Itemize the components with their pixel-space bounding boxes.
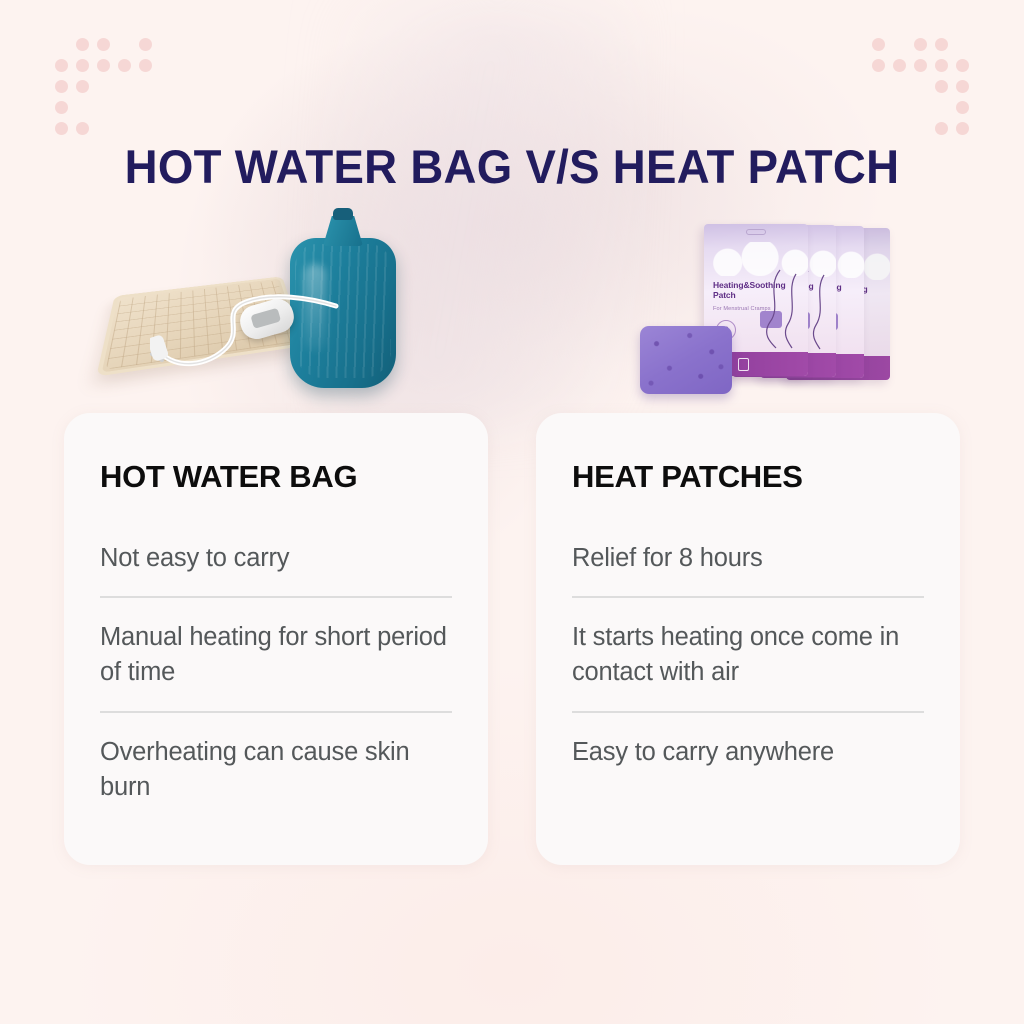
decorative-dot: [76, 59, 89, 72]
purple-heat-patch: [640, 326, 732, 394]
comparison-cards: HOT WATER BAG Not easy to carry Manual h…: [64, 413, 960, 865]
decorative-dot: [872, 38, 885, 51]
decorative-dot: [55, 122, 68, 135]
decorative-dot: [55, 59, 68, 72]
hot-water-bottle: [290, 238, 396, 388]
hang-tab-icon: [746, 229, 766, 235]
decorative-dot: [935, 59, 948, 72]
decorative-dot: [76, 38, 89, 51]
decorative-dot: [76, 122, 89, 135]
bottle-cap: [333, 208, 353, 220]
decorative-dot: [139, 38, 152, 51]
feature-list: Not easy to carry Manual heating for sho…: [100, 535, 452, 825]
decorative-dot: [935, 122, 948, 135]
decorative-dot: [893, 59, 906, 72]
list-item: Not easy to carry: [100, 535, 452, 596]
product-images: Heating&Soothing Patch Heating&Soothing …: [0, 196, 1024, 408]
decorative-dot: [55, 80, 68, 93]
bottle-neck: [323, 216, 363, 246]
list-item: Easy to carry anywhere: [572, 711, 924, 790]
decorative-dots-top-left: [34, 38, 174, 148]
decorative-dot: [914, 38, 927, 51]
decorative-dot: [97, 38, 110, 51]
body-silhouette-graphic: [746, 268, 804, 350]
decorative-dot: [118, 59, 131, 72]
decorative-dot: [956, 101, 969, 114]
feature-list: Relief for 8 hours It starts heating onc…: [572, 535, 924, 790]
decorative-dot: [935, 80, 948, 93]
list-item: Manual heating for short period of time: [100, 596, 452, 710]
decorative-dot: [97, 59, 110, 72]
decorative-dot: [55, 101, 68, 114]
card-title: HOT WATER BAG: [100, 459, 452, 495]
decorative-dot: [139, 59, 152, 72]
list-item: Overheating can cause skin burn: [100, 711, 452, 825]
card-heat-patches: HEAT PATCHES Relief for 8 hours It start…: [536, 413, 960, 865]
decorative-dot: [956, 122, 969, 135]
decorative-dot: [956, 80, 969, 93]
page-title: HOT WATER BAG V/S HEAT PATCH: [15, 139, 1008, 194]
list-item: It starts heating once come in contact w…: [572, 596, 924, 710]
card-hot-water-bag: HOT WATER BAG Not easy to carry Manual h…: [64, 413, 488, 865]
decorative-dot: [956, 59, 969, 72]
decorative-dots-top-right: [850, 38, 990, 148]
decorative-dot: [935, 38, 948, 51]
list-item: Relief for 8 hours: [572, 535, 924, 596]
card-title: HEAT PATCHES: [572, 459, 924, 495]
heat-patch-product-image: Heating&Soothing Patch Heating&Soothing …: [640, 214, 890, 396]
decorative-dot: [76, 80, 89, 93]
decorative-dot: [872, 59, 885, 72]
hot-water-bag-product-image: [104, 238, 404, 388]
decorative-dot: [914, 59, 927, 72]
